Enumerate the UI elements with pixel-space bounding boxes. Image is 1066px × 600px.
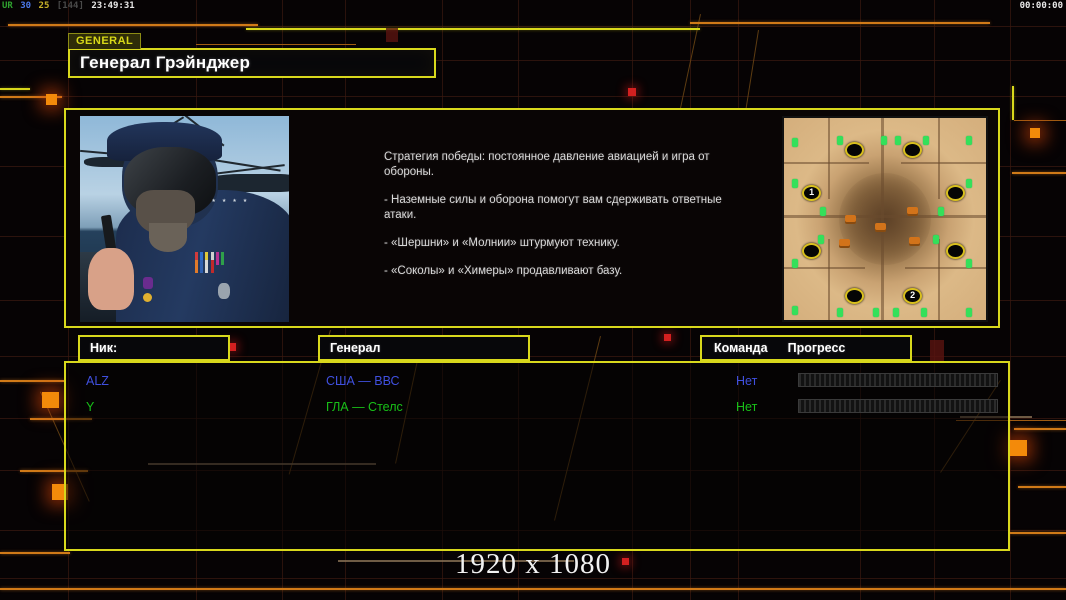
column-header-nick-label: Ник: xyxy=(90,341,117,355)
player-general: ГЛА — Стелс xyxy=(326,400,403,414)
map-start-position xyxy=(845,288,864,304)
player-team: Нет xyxy=(736,400,757,414)
map-start-position xyxy=(903,142,922,158)
player-general: США — ВВС xyxy=(326,374,400,388)
map-preview[interactable]: 1 2 xyxy=(782,116,988,322)
column-header-nick: Ник: xyxy=(78,335,230,361)
column-header-team-label: Команда xyxy=(714,341,768,355)
player-nick: Y xyxy=(86,400,94,414)
general-portrait xyxy=(80,116,289,322)
game-lobby-screen: UR 30 25 [144] 23:49:31 00:00:00 GENERAL… xyxy=(0,0,1066,600)
description-line-2: - «Шершни» и «Молнии» штурмуют технику. xyxy=(384,236,724,251)
resolution-label: 1920 x 1080 xyxy=(0,548,1066,581)
tab-general[interactable]: GENERAL xyxy=(68,33,141,49)
player-nick: ALZ xyxy=(86,374,109,388)
column-header-general: Генерал xyxy=(318,335,530,361)
column-header-progress-label: Прогресс xyxy=(788,341,846,355)
player-progress-bar xyxy=(798,373,998,387)
map-start-position xyxy=(946,185,965,201)
map-start-position xyxy=(946,243,965,259)
status-session-time: 23:49:31 xyxy=(89,1,134,11)
map-start-position xyxy=(802,243,821,259)
status-num-2: 25 xyxy=(37,1,50,11)
player-progress-bar xyxy=(798,399,998,413)
table-row[interactable]: Y ГЛА — Стелс Нет xyxy=(66,394,1008,420)
description-line-3: - «Соколы» и «Химеры» продавливают базу. xyxy=(384,264,724,279)
status-ur: UR xyxy=(0,1,13,11)
map-start-position xyxy=(845,142,864,158)
clock: 00:00:00 xyxy=(1020,0,1063,13)
status-bracket: [144] xyxy=(55,1,84,11)
general-description: Стратегия победы: постоянное давление ав… xyxy=(384,150,724,279)
map-start-position-2: 2 xyxy=(903,288,922,304)
status-num-1: 30 xyxy=(18,1,31,11)
map-start-position-1: 1 xyxy=(802,185,821,201)
page-title: Генерал Грэйнджер xyxy=(80,53,250,73)
general-info-panel: Стратегия победы: постоянное давление ав… xyxy=(64,108,1000,328)
column-header-team-progress: Команда Прогресс xyxy=(700,335,912,361)
description-line-0: Стратегия победы: постоянное давление ав… xyxy=(384,150,724,180)
description-line-1: - Наземные силы и оборона помогут вам сд… xyxy=(384,193,724,223)
player-list-panel: ALZ США — ВВС Нет Y ГЛА — Стелс Нет xyxy=(64,361,1010,551)
status-bar: UR 30 25 [144] 23:49:31 00:00:00 xyxy=(0,0,1066,13)
column-header-general-label: Генерал xyxy=(330,341,380,355)
player-team: Нет xyxy=(736,374,757,388)
table-row[interactable]: ALZ США — ВВС Нет xyxy=(66,368,1008,394)
general-title-box: Генерал Грэйнджер xyxy=(68,48,436,78)
tab-general-label: GENERAL xyxy=(76,35,133,47)
